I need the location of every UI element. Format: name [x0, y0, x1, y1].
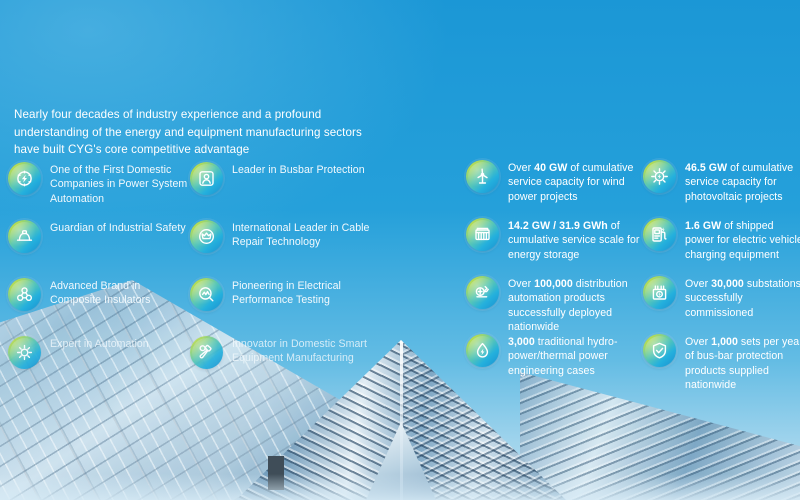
- list-item-label: Leader in Busbar Protection: [232, 162, 365, 177]
- performance-testing-icon: [190, 278, 223, 311]
- composite-insulator-icon: [8, 278, 41, 311]
- stat-value: 3,000: [508, 336, 535, 348]
- photovoltaic-icon: [643, 160, 676, 193]
- distribution-automation-icon: [466, 276, 499, 309]
- list-item-label: 3,000 traditional hydro-power/thermal po…: [508, 334, 646, 378]
- list-item[interactable]: 14.2 GW / 31.9 GWh of cumulative service…: [466, 218, 646, 276]
- stat-value: 40 GW: [534, 162, 567, 174]
- stat-prefix: Over: [685, 336, 711, 348]
- power-automation-icon: [8, 162, 41, 195]
- substation-icon: [643, 276, 676, 309]
- hydro-thermal-power-icon: [466, 334, 499, 367]
- list-item[interactable]: Advanced Brand in Composite Insulators: [8, 278, 188, 336]
- list-item-label: 1.6 GW of shipped power for electric veh…: [685, 218, 800, 262]
- list-item-label: Over 100,000 distribution automation pro…: [508, 276, 646, 335]
- stat-value: 100,000: [534, 278, 573, 290]
- list-item[interactable]: One of the First Domestic Companies in P…: [8, 162, 188, 220]
- column-credentials-left: One of the First Domestic Companies in P…: [8, 162, 188, 394]
- list-item-label: Advanced Brand in Composite Insulators: [50, 278, 188, 308]
- list-item-label: 46.5 GW of cumulative service capacity f…: [685, 160, 800, 204]
- list-item[interactable]: Over 100,000 distribution automation pro…: [466, 276, 646, 334]
- list-item[interactable]: Leader in Busbar Protection: [190, 162, 375, 220]
- wind-turbine-icon: [466, 160, 499, 193]
- page-title: Nearly four decades of industry experien…: [14, 106, 374, 159]
- list-item[interactable]: Over 40 GW of cumulative service capacit…: [466, 160, 646, 218]
- list-item-label: Over 30,000 substations successfully com…: [685, 276, 800, 320]
- stat-value: 30,000: [711, 278, 744, 290]
- list-item[interactable]: 3,000 traditional hydro-power/thermal po…: [466, 334, 646, 392]
- bottom-haze: [0, 474, 800, 500]
- cable-repair-crown-icon: [190, 220, 223, 253]
- list-item-label: International Leader in Cable Repair Tec…: [232, 220, 375, 250]
- list-item[interactable]: International Leader in Cable Repair Tec…: [190, 220, 375, 278]
- list-item[interactable]: Expert in Automation: [8, 336, 188, 394]
- list-item-label: One of the First Domestic Companies in P…: [50, 162, 188, 206]
- list-item-label: Innovator in Domestic Smart Equipment Ma…: [232, 336, 375, 366]
- column-stats-left: Over 40 GW of cumulative service capacit…: [466, 160, 646, 392]
- list-item[interactable]: Over 30,000 substations successfully com…: [643, 276, 800, 334]
- stat-value: 14.2 GW / 31.9 GWh: [508, 220, 608, 232]
- list-item-label: Guardian of Industrial Safety: [50, 220, 186, 235]
- busbar-protection-icon: [190, 162, 223, 195]
- list-item-label: 14.2 GW / 31.9 GWh of cumulative service…: [508, 218, 646, 262]
- list-item[interactable]: Over 1,000 sets per year of bus-bar prot…: [643, 334, 800, 392]
- list-item-label: Pioneering in Electrical Performance Tes…: [232, 278, 375, 308]
- stat-prefix: Over: [508, 278, 534, 290]
- smart-equipment-icon: [190, 336, 223, 369]
- list-item[interactable]: Innovator in Domestic Smart Equipment Ma…: [190, 336, 375, 394]
- list-item[interactable]: Pioneering in Electrical Performance Tes…: [190, 278, 375, 336]
- stat-value: 46.5 GW: [685, 162, 727, 174]
- hard-hat-icon: [8, 220, 41, 253]
- column-stats-right: 46.5 GW of cumulative service capacity f…: [643, 160, 800, 392]
- list-item-label: Expert in Automation: [50, 336, 149, 351]
- ev-charging-icon: [643, 218, 676, 251]
- list-item[interactable]: Guardian of Industrial Safety: [8, 220, 188, 278]
- list-item-label: Over 1,000 sets per year of bus-bar prot…: [685, 334, 800, 393]
- list-item-label: Over 40 GW of cumulative service capacit…: [508, 160, 646, 204]
- list-item[interactable]: 46.5 GW of cumulative service capacity f…: [643, 160, 800, 218]
- stat-prefix: Over: [685, 278, 711, 290]
- energy-storage-icon: [466, 218, 499, 251]
- stat-prefix: Over: [508, 162, 534, 174]
- list-item[interactable]: 1.6 GW of shipped power for electric veh…: [643, 218, 800, 276]
- busbar-shield-icon: [643, 334, 676, 367]
- column-credentials-right: Leader in Busbar ProtectionInternational…: [190, 162, 375, 394]
- gear-automation-icon: [8, 336, 41, 369]
- poster-canvas: Nearly four decades of industry experien…: [0, 0, 800, 500]
- stat-value: 1.6 GW: [685, 220, 721, 232]
- stat-value: 1,000: [711, 336, 738, 348]
